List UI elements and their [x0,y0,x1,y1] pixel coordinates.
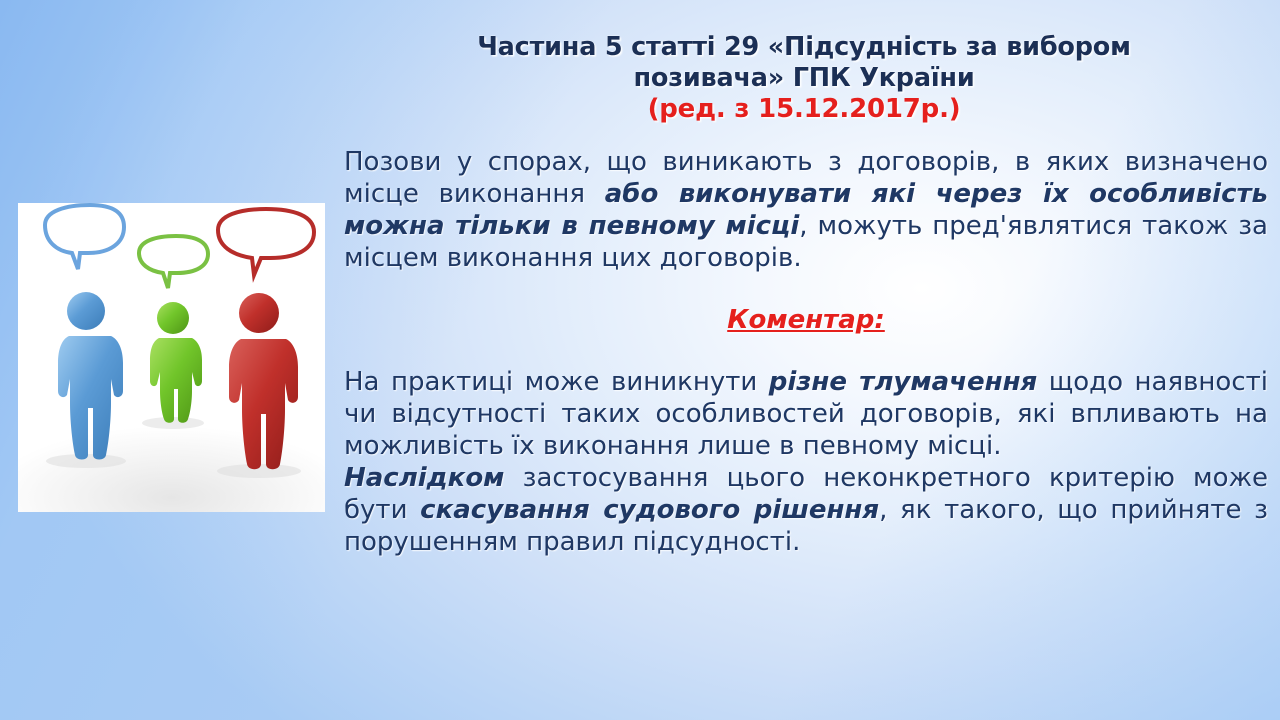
paragraph-main-rule: Позови у спорах, що виникають з договорі… [344,146,1268,274]
slide-body: Позови у спорах, що виникають з договорі… [344,146,1268,558]
paragraph-consequence: Наслідком застосування цього неконкретно… [344,462,1268,558]
title-line-3-revision-date: (ред. з 15.12.2017р.) [340,94,1268,125]
slide-title: Частина 5 статті 29 «Підсудність за вибо… [340,32,1268,125]
illustration-three-people-talking [18,203,325,512]
title-line-1: Частина 5 статті 29 «Підсудність за вибо… [340,32,1268,63]
comment-heading: Коментар: [344,304,1268,336]
slide-canvas: Частина 5 статті 29 «Підсудність за вибо… [0,0,1280,720]
para3-emphasis-1: Наслідком [344,463,504,493]
title-line-2: позивача» ГПК України [340,63,1268,94]
spacer [344,274,1268,304]
para2-emphasis-1: різне тлумачення [769,367,1037,397]
para3-emphasis-2: скасування судового рішення [420,495,879,525]
people-speech-bubbles-graphic [18,203,325,512]
para2-part1: На практиці може виникнути [344,367,769,397]
paragraph-practice-note: На практиці може виникнути різне тлумаче… [344,366,1268,462]
spacer [344,336,1268,366]
